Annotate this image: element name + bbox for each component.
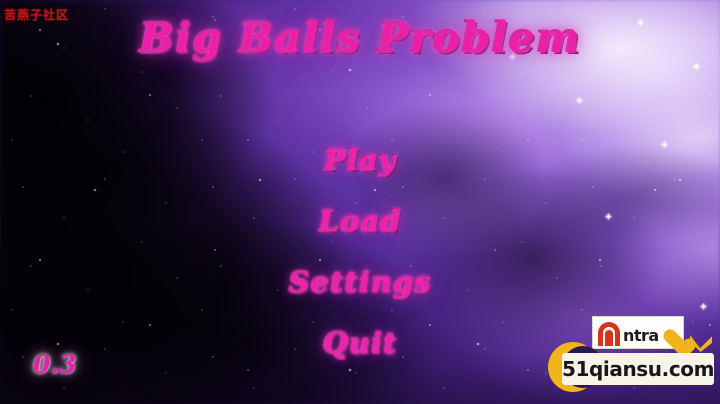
arch-logo-inner-icon bbox=[605, 330, 613, 346]
version-label: 0.3 bbox=[33, 350, 77, 379]
heart-icon bbox=[662, 328, 688, 352]
menu-item-play[interactable]: Play bbox=[324, 143, 396, 177]
menu-item-settings[interactable]: Settings bbox=[289, 265, 432, 299]
watermark-url-text: 51qiansu.com bbox=[562, 357, 714, 381]
watermark-wordmark: ntra bbox=[623, 326, 659, 345]
game-title-screen: 苦燕子社区 Big Balls Problem Play Load Settin… bbox=[0, 0, 720, 404]
menu-item-load[interactable]: Load bbox=[319, 204, 402, 238]
menu-item-quit[interactable]: Quit bbox=[323, 326, 398, 360]
watermark-url-pill: 51qiansu.com bbox=[562, 353, 714, 385]
game-title: Big Balls Problem bbox=[0, 14, 720, 62]
site-watermark: ntra 51qiansu.com bbox=[542, 316, 714, 394]
